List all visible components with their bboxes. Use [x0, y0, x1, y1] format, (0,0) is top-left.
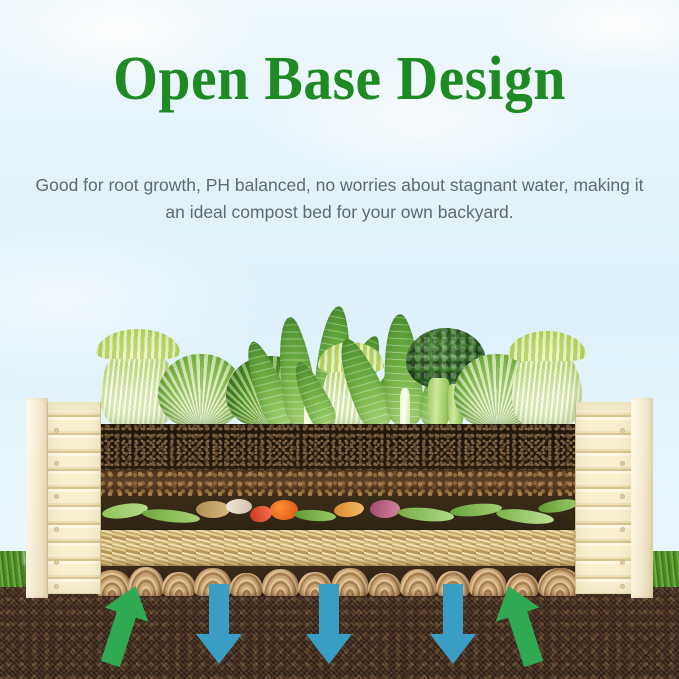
panel-screw	[54, 494, 59, 499]
drainage-arrow-down-2	[306, 584, 352, 664]
panel-screw	[54, 560, 59, 565]
bed-corner-post-left	[26, 398, 48, 598]
bed-cross-section	[98, 424, 576, 596]
compost-topsoil-layer	[98, 424, 576, 470]
panel-screw	[620, 428, 625, 433]
bed-panel-left[interactable]	[26, 402, 99, 594]
bed-corrugated-panel-right	[575, 402, 633, 594]
log	[162, 572, 196, 596]
scrap-eggshell	[226, 499, 252, 514]
panel-screw	[54, 584, 59, 589]
scrap-tomato	[270, 500, 298, 520]
product-infographic: Open Base Design Good for root growth, P…	[0, 0, 679, 679]
scrap-carrot	[333, 500, 364, 518]
panel-screw	[620, 560, 625, 565]
log	[262, 569, 299, 596]
panel-screw	[54, 461, 59, 466]
page-subtitle: Good for root growth, PH balanced, no wo…	[0, 172, 679, 225]
bed-panel-right[interactable]	[575, 402, 653, 594]
scrap-onion-skin	[370, 500, 400, 518]
drainage-arrow-down-3	[430, 584, 476, 664]
panel-screw	[54, 428, 59, 433]
napa-cabbage	[512, 346, 582, 428]
straw-layer	[98, 530, 576, 566]
napa-cabbage-frill	[96, 329, 180, 359]
panel-screw	[54, 527, 59, 532]
scrap-green-leaf	[537, 497, 576, 515]
scrap-green-leaf	[398, 506, 455, 524]
vegetable-row	[98, 296, 576, 428]
scrap-green-bean	[294, 509, 337, 523]
log	[368, 573, 401, 596]
panel-screw	[620, 494, 625, 499]
panel-screw	[620, 584, 625, 589]
brown-soil-layer	[98, 470, 576, 496]
scrap-potato-peel	[196, 501, 230, 518]
panel-screw	[620, 527, 625, 532]
broccoli-stalk	[428, 378, 450, 428]
bed-corner-post-right	[631, 398, 653, 598]
page-title: Open Base Design	[24, 47, 655, 112]
napa-cabbage-frill	[508, 331, 586, 361]
log	[538, 568, 576, 596]
scrap-green-stalk	[142, 507, 201, 525]
panel-screw	[620, 461, 625, 466]
food-scraps-layer	[98, 496, 576, 530]
bed-corrugated-panel-left	[47, 402, 101, 594]
drainage-arrow-down-1	[196, 584, 242, 664]
scrap-green-stalk	[450, 502, 503, 518]
